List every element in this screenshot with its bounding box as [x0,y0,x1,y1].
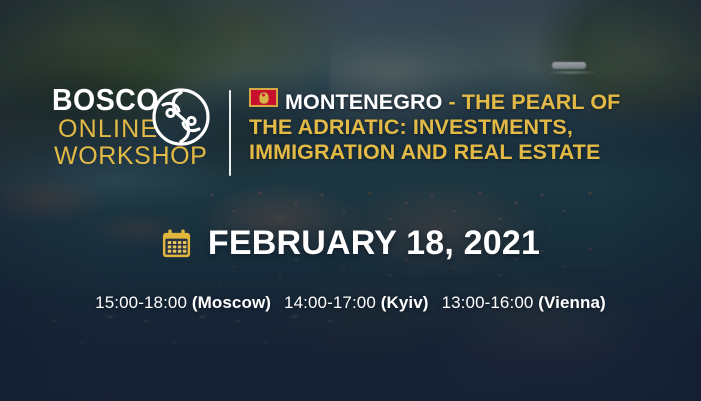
timezone-vienna-city: (Vienna) [538,293,606,312]
flag-coat-of-arms [259,92,268,103]
event-date-row: FEBRUARY 18, 2021 [0,226,701,260]
bosco-circle-emblem-icon [151,87,211,147]
timezone-kyiv-range: 14:00-17:00 [284,293,376,312]
event-banner: BOSCO ONLINE WORKSHOP MONTENEGRO - THE P… [0,0,701,401]
headline-line-2: THE ADRIATIC: INVESTMENTS, [249,115,659,140]
headline-block: MONTENEGRO - THE PEARL OF THE ADRIATIC: … [249,88,659,165]
headline-line-3: IMMIGRATION AND REAL ESTATE [249,140,659,165]
event-date-text: FEBRUARY 18, 2021 [208,226,540,260]
vertical-divider [229,90,231,176]
timezone-moscow: 15:00-18:00 (Moscow) [95,294,271,311]
brand-word-workshop: WORKSHOP [52,144,220,169]
event-times-row: 15:00-18:00 (Moscow)14:00-17:00 (Kyiv)13… [0,294,701,311]
timezone-moscow-city: (Moscow) [192,293,271,312]
headline-line-1: MONTENEGRO - THE PEARL OF [249,88,659,115]
timezone-kyiv: 14:00-17:00 (Kyiv) [284,294,429,311]
headline-country: MONTENEGRO [285,90,442,114]
timezone-kyiv-city: (Kyiv) [381,293,429,312]
timezone-vienna: 13:00-16:00 (Vienna) [442,294,606,311]
banner-content: BOSCO ONLINE WORKSHOP MONTENEGRO - THE P… [0,0,701,401]
headline-line-1-rest: - THE PEARL OF [442,90,620,114]
timezone-moscow-range: 15:00-18:00 [95,293,187,312]
timezone-vienna-range: 13:00-16:00 [442,293,534,312]
calendar-icon [161,228,192,259]
montenegro-flag-icon [249,88,278,107]
